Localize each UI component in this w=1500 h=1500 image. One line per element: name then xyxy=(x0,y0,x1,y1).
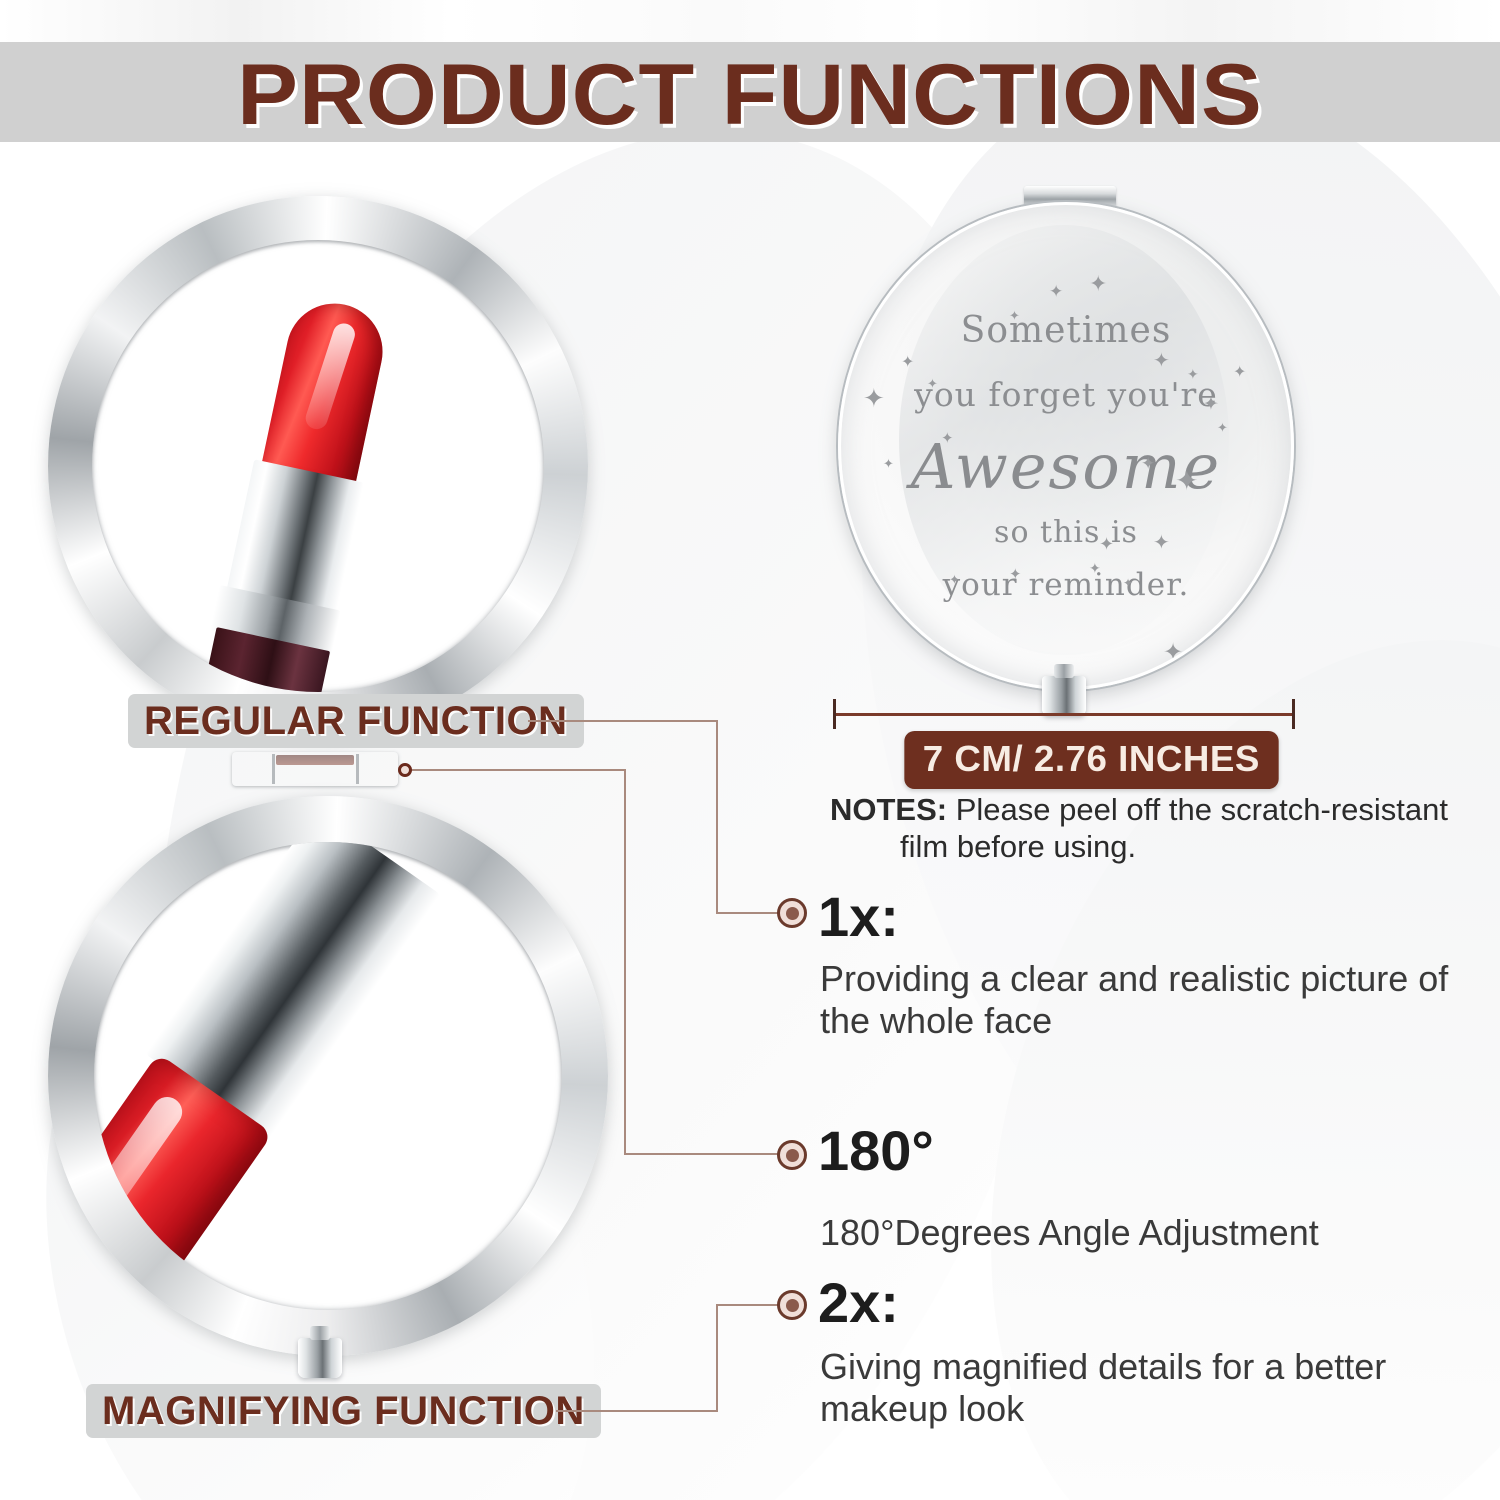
mirror-regular xyxy=(48,196,588,736)
hinge-seam-left xyxy=(272,754,275,784)
notes-text: NOTES: Please peel off the scratch-resis… xyxy=(830,792,1470,865)
dimension-cap-right xyxy=(1292,699,1295,729)
star-icon: ✦ xyxy=(1089,561,1101,575)
clasp-neck xyxy=(1054,664,1074,678)
star-icon: ✦ xyxy=(1123,577,1133,589)
star-icon: ✦ xyxy=(1187,367,1199,381)
feature-desc-2x: Giving magnified details for a better ma… xyxy=(820,1346,1480,1431)
star-icon: ✦ xyxy=(1049,283,1063,300)
engraving-line-3-awesome: Awesome xyxy=(841,430,1291,503)
engraving-line-4: so this is xyxy=(841,515,1291,550)
star-icon: ✦ xyxy=(901,355,914,371)
star-icon: ✦ xyxy=(1089,273,1107,295)
infographic-canvas: PRODUCT FUNCTIONS xyxy=(0,0,1500,1500)
feature-desc-180: 180°Degrees Angle Adjustment xyxy=(820,1212,1480,1254)
page-title: PRODUCT FUNCTIONS xyxy=(0,40,1500,150)
feature-title-1x: 1x: xyxy=(818,884,899,949)
compact-lid: Sometimes you forget you're Awesome so t… xyxy=(838,202,1294,690)
star-icon: ✦ xyxy=(1233,365,1246,381)
hinge-shadow xyxy=(276,755,354,765)
star-icon: ✦ xyxy=(1153,351,1170,371)
mirror-glass-magnifying xyxy=(94,842,562,1310)
star-icon: ✦ xyxy=(1009,567,1022,582)
dimension-line xyxy=(833,713,1295,716)
star-icon: ✦ xyxy=(1217,421,1228,434)
star-icon: ✦ xyxy=(1153,533,1170,553)
star-icon: ✦ xyxy=(883,457,894,470)
notes-label: NOTES: xyxy=(830,792,947,827)
lipstick-normal-size xyxy=(203,292,401,692)
hinge-seam-right xyxy=(356,754,359,784)
star-icon: ✦ xyxy=(1175,467,1198,495)
mirror-magnifying xyxy=(48,796,608,1356)
feature-bullet-icon xyxy=(777,898,807,928)
label-magnifying-function: MAGNIFYING FUNCTION xyxy=(86,1384,601,1438)
star-icon: ✦ xyxy=(1099,535,1114,553)
notes-line-2: film before using. xyxy=(830,829,1470,866)
dimension-badge: 7 CM/ 2.76 INCHES xyxy=(904,731,1278,789)
background-top-strip xyxy=(0,0,1500,42)
engraved-quote: Sometimes you forget you're Awesome so t… xyxy=(841,205,1291,687)
feature-desc-1x: Providing a clear and realistic picture … xyxy=(820,958,1480,1043)
star-icon: ✦ xyxy=(927,377,938,390)
label-regular-function: REGULAR FUNCTION xyxy=(128,694,584,748)
mirror-hinge xyxy=(232,752,398,786)
connector-hinge-v xyxy=(624,769,626,1155)
connector-magnify-h2 xyxy=(716,1304,782,1306)
feature-title-2x: 2x: xyxy=(818,1270,899,1335)
feature-bullet-icon xyxy=(777,1140,807,1170)
connector-hinge-h2 xyxy=(624,1153,782,1155)
star-icon: ✦ xyxy=(949,573,960,586)
connector-regular-v xyxy=(716,720,718,914)
star-icon: ✦ xyxy=(1009,309,1020,322)
compact-clasp-knob xyxy=(1042,676,1086,716)
clasp-neck xyxy=(310,1326,330,1340)
star-icon: ✦ xyxy=(941,431,954,446)
engraving-line-2: you forget you're xyxy=(841,375,1291,414)
connector-magnify-v xyxy=(716,1306,718,1412)
connector-hinge-h1 xyxy=(404,769,626,771)
feature-bullet-icon xyxy=(777,1290,807,1320)
mirror-glass-regular xyxy=(92,240,544,692)
notes-line-1: Please peel off the scratch-resistant xyxy=(947,792,1448,827)
dimension-cap-left xyxy=(833,699,836,729)
engraving-line-1: Sometimes xyxy=(841,310,1291,351)
connector-regular-h2 xyxy=(716,912,782,914)
star-icon: ✦ xyxy=(1203,395,1219,414)
hinge-marker-dot xyxy=(398,763,412,777)
connector-regular-h1 xyxy=(528,720,718,722)
connector-magnify-h1 xyxy=(556,1410,718,1412)
engraving-line-5: your reminder. xyxy=(841,567,1291,603)
compact-mirror-closed: Sometimes you forget you're Awesome so t… xyxy=(838,186,1288,686)
star-icon: ✦ xyxy=(1163,641,1183,665)
compact-clasp-knob xyxy=(298,1338,342,1378)
feature-title-180: 180° xyxy=(818,1118,934,1183)
star-icon: ✦ xyxy=(1141,455,1155,472)
star-icon: ✦ xyxy=(863,385,885,411)
star-icon: ✦ xyxy=(917,637,935,659)
